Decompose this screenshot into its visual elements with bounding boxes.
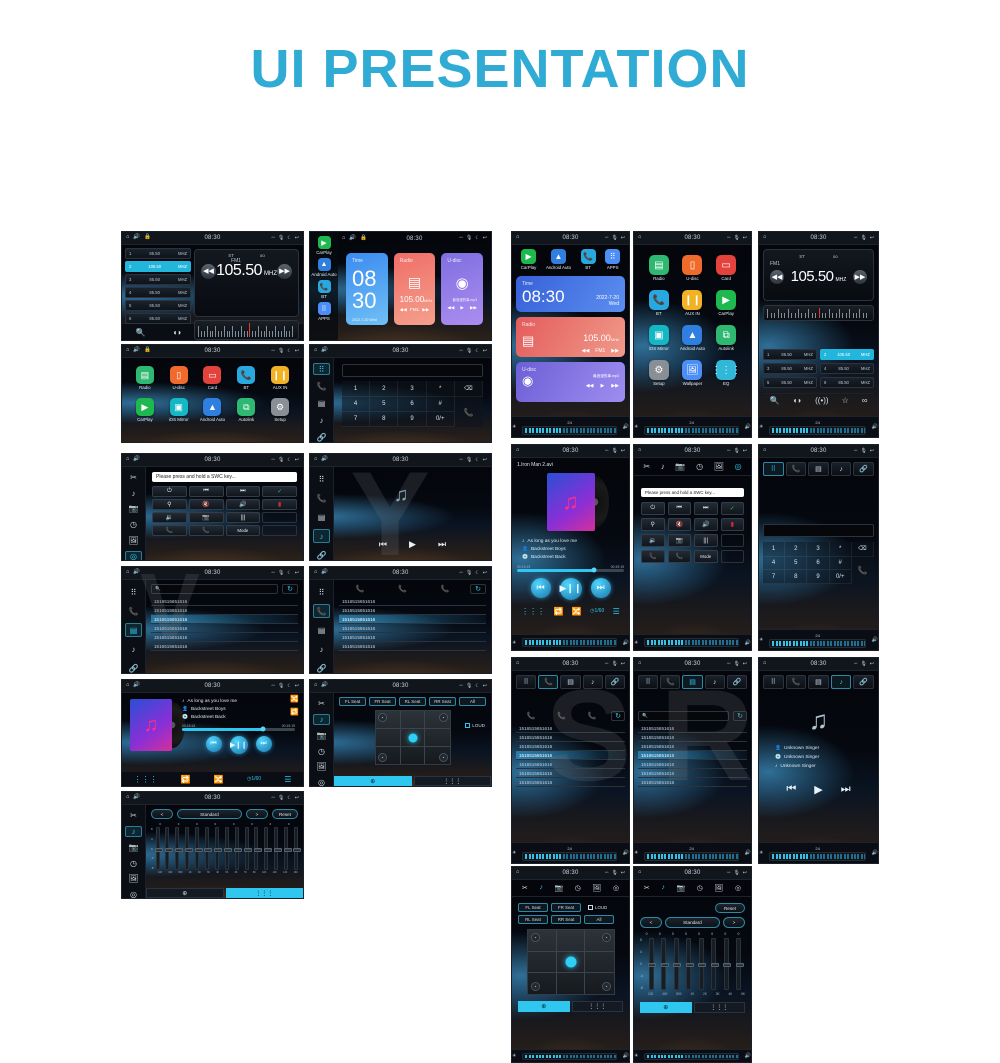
panel-balance-vertical[interactable]: ⌂ 08:30 ▫▫🎙↩ ✂ ♪ 📷 ◷ 🖼 ◎ FL Seat FR Sea (511, 866, 630, 1063)
balance-icon[interactable]: ⊕ (518, 1001, 570, 1012)
eq-slider[interactable] (245, 827, 249, 870)
list-item[interactable]: 1516515651616 (638, 760, 747, 769)
clock-icon[interactable]: ◷ (575, 884, 581, 892)
home-icon[interactable]: ⌂ (516, 448, 519, 454)
search-input[interactable]: 🔍 (638, 711, 729, 721)
eq-slider-knob[interactable] (234, 848, 242, 852)
eq-slider-knob[interactable] (155, 848, 163, 852)
music-icon[interactable]: ♪ (583, 675, 603, 689)
dial-key[interactable]: 9 (398, 412, 426, 427)
seat-rr[interactable]: RR Seat (551, 915, 581, 924)
dialpad-icon[interactable]: ⠿ (763, 462, 784, 476)
steering-icon[interactable]: ◎ (735, 462, 742, 471)
panel-dialpad-vertical[interactable]: ⌂ 08:30 ▫▫🎙↩ ⠿ 📞 ▤ ♪ 🔗 1 2 3 * (758, 444, 879, 651)
moon-icon[interactable]: ☾ (287, 458, 291, 463)
eq-slider[interactable] (711, 938, 716, 990)
seat-selector-row1[interactable]: FL Seat FR Seat LOUD (518, 903, 623, 912)
seat-rr[interactable]: RR Seat (429, 697, 456, 706)
call-icon[interactable]: 📞 (455, 397, 483, 427)
list-item[interactable]: 1516515651616 (638, 769, 747, 778)
dial-key[interactable]: 4 (342, 397, 370, 412)
moon-icon[interactable]: ☾ (475, 349, 479, 354)
home-icon[interactable]: ⌂ (638, 661, 641, 667)
mic-icon[interactable]: 🎙 (611, 871, 617, 876)
prev-icon[interactable]: ⏮ (379, 539, 387, 550)
image-icon[interactable]: 🖼 (714, 462, 724, 471)
radio-preset[interactable]: 485.50MHZ (125, 287, 191, 298)
back-icon[interactable]: ↩ (295, 349, 299, 354)
moon-icon[interactable]: ☾ (287, 236, 291, 241)
eq-slider[interactable] (661, 938, 666, 990)
panel-home-vertical[interactable]: ⌂ 08:30 ▫▫🎙↩ ▶CarPlay ▲Android Auto 📞BT … (511, 231, 630, 438)
camera-icon[interactable]: 📷 (125, 504, 142, 515)
swc-volume-down-key[interactable]: 🔉 (152, 512, 187, 523)
play-icon[interactable]: ▶ (460, 305, 464, 311)
eq-reset-button[interactable]: Reset (715, 903, 745, 913)
home-icon[interactable]: ⌂ (126, 348, 129, 354)
list-item[interactable]: 1516515651616 (339, 615, 486, 624)
back-icon[interactable]: ↩ (483, 236, 487, 241)
sidebar-item-apps[interactable]: ⠿ APPS (318, 302, 331, 321)
swc-cancel-key[interactable]: ▮ (262, 499, 297, 510)
eq-slider[interactable] (674, 938, 679, 990)
bt-sidebar[interactable]: ⠿ 📞 ▤ ♪ 🔗 (310, 467, 334, 561)
list-item[interactable]: 1516515651616 (151, 633, 298, 642)
app-setup[interactable]: ⚙Setup (649, 360, 669, 386)
btmusic-controls[interactable]: ⏮ ▶ ⏭ (763, 783, 874, 796)
swc-eq-key[interactable]: ||| (226, 512, 261, 523)
music-controls[interactable]: ⏮ ▶❙❙ ⏭ (517, 578, 624, 600)
eq-slider-knob[interactable] (165, 848, 173, 852)
audio-tabs[interactable]: ⊕ ⋮⋮⋮ (640, 1002, 745, 1013)
back-icon[interactable]: ↩ (295, 571, 299, 576)
radio-preset[interactable]: 685.50MHZ (125, 313, 191, 324)
moon-icon[interactable]: ☾ (287, 349, 291, 354)
swc-key-grid[interactable]: ⏻ ⏮ ⏭ ✓ ⚲ 🔇 🔊 ▮ 🔉 📷 ||| 📞 📞 (152, 486, 297, 536)
eq-slider[interactable] (156, 827, 160, 870)
moon-icon[interactable]: ☾ (287, 571, 291, 576)
app-card[interactable]: ▭Card (203, 366, 221, 390)
dial-key[interactable]: 6 (807, 557, 829, 571)
list-item[interactable]: 1516515651616 (516, 751, 625, 760)
dial-key[interactable]: 7 (763, 570, 785, 584)
mic-icon[interactable]: 🎙 (278, 796, 284, 801)
seat-fr[interactable]: FR Seat (551, 903, 581, 912)
sound-icon[interactable]: ♪ (125, 826, 142, 837)
dial-key[interactable]: 2 (785, 542, 807, 557)
call-log-icon[interactable]: 📞 (313, 380, 330, 392)
eq-slider-group[interactable] (645, 938, 745, 990)
list-item[interactable]: 1516515651616 (151, 624, 298, 633)
panel-eq-vertical[interactable]: ⌂ 08:30 ▫▫🎙↩ ✂ ♪ 📷 ◷ 🖼 ◎ Reset (633, 866, 752, 1063)
steering-icon[interactable]: ◎ (613, 884, 619, 892)
lock-icon[interactable]: 🔒 (144, 235, 151, 241)
home-icon[interactable]: ⌂ (638, 870, 641, 876)
mic-icon[interactable]: 🎙 (466, 236, 472, 241)
tune-down-button[interactable]: ◀◀ (770, 270, 784, 284)
eq-slider[interactable] (649, 938, 654, 990)
list-item[interactable]: 1516515651616 (151, 597, 298, 606)
eq-slider[interactable] (699, 938, 704, 990)
card-time[interactable]: Time 08:30 2022-7-20 Wed (516, 276, 625, 312)
app-grid[interactable]: ▤Radio ▯U-disc ▭Card 📞BT ❙❙AUX IN ▶CarPl… (642, 255, 743, 386)
panel-music-horizontal[interactable]: ⌂🔊 08:30 ▫▫🎙☾↩ ♫ ♪As long as you love me… (121, 679, 304, 787)
back-icon[interactable]: ↩ (870, 236, 874, 241)
list-item[interactable]: 1516515651616 (151, 606, 298, 615)
swc-mode-key[interactable]: Mode (226, 525, 261, 536)
radio-preset[interactable]: 385.50MHZ (125, 274, 191, 285)
bt-sidebar[interactable]: ⠿ 📞 ▤ ♪ 🔗 (310, 358, 334, 443)
music-icon[interactable]: ♪ (831, 462, 852, 476)
app-setup[interactable]: ⚙Setup (271, 398, 289, 422)
eq-slider[interactable] (724, 938, 729, 990)
dialpad-icon[interactable]: ⠿ (313, 472, 330, 486)
back-icon[interactable]: ↩ (743, 449, 747, 454)
seat-fr[interactable]: FR Seat (369, 697, 396, 706)
contacts-icon[interactable]: ▤ (682, 675, 702, 689)
swc-camera-key[interactable]: 📷 (189, 512, 224, 523)
eq-slider-knob[interactable] (185, 848, 193, 852)
swc-end-key[interactable]: 📞 (668, 550, 692, 563)
back-icon[interactable]: ↩ (621, 871, 625, 876)
clock-icon[interactable]: ◷ (697, 884, 703, 892)
prev-icon[interactable]: ◀◀ (586, 383, 594, 389)
music-progress[interactable] (517, 569, 624, 572)
eq-icon[interactable]: ⋮⋮⋮ (572, 1001, 624, 1012)
steering-icon[interactable]: ◎ (125, 551, 142, 561)
scan-icon[interactable]: ◖◗ (792, 396, 802, 405)
home-icon[interactable]: ⌂ (763, 448, 766, 454)
tune-up-button[interactable]: ▶▶ (853, 270, 867, 284)
app-android-auto[interactable]: ▲Android Auto (200, 398, 225, 422)
image-icon[interactable]: 🖼 (715, 884, 724, 892)
balance-grid[interactable] (527, 929, 615, 995)
home-icon[interactable]: ⌂ (516, 235, 519, 241)
swc-mode-key[interactable]: Mode (694, 550, 718, 563)
dial-key[interactable]: 0/+ (830, 570, 852, 584)
balance-grid[interactable] (375, 710, 451, 765)
call-icon[interactable]: 📞 (852, 557, 874, 584)
back-icon[interactable]: ↩ (295, 796, 299, 801)
list-item[interactable]: 1516515651616 (151, 615, 298, 624)
prev-icon[interactable]: ⏮ (206, 736, 222, 752)
music-icon[interactable]: ♪ (831, 675, 852, 689)
sound-icon[interactable]: ♪ (661, 462, 665, 471)
home-icon[interactable]: ⌂ (638, 448, 641, 454)
missed-call-icon[interactable]: 📞 (587, 712, 596, 720)
home-icon[interactable]: ⌂ (516, 870, 519, 876)
mic-icon[interactable]: 🎙 (278, 236, 284, 241)
mic-icon[interactable]: 🎙 (278, 349, 284, 354)
back-icon[interactable]: ↩ (743, 871, 747, 876)
mic-icon[interactable]: 🎙 (733, 662, 739, 667)
missed-call-icon[interactable]: 📞 (440, 585, 449, 593)
list-item[interactable]: 1516515651616 (638, 778, 747, 787)
mic-icon[interactable]: 🎙 (466, 684, 472, 689)
back-icon[interactable]: ↩ (621, 662, 625, 667)
link-icon[interactable]: 🔗 (125, 661, 142, 674)
seat-selector-row2[interactable]: RL Seat RR Seat All (518, 915, 623, 924)
seat-fl[interactable]: FL Seat (518, 903, 548, 912)
home-icon[interactable]: ⌂ (126, 795, 129, 801)
card-udisc[interactable]: U-disc ◉ 最浪漫的事.mp3 ◀◀ ▶ ▶▶ (441, 253, 483, 325)
tuning-scale[interactable] (194, 320, 299, 340)
prev-icon[interactable]: ◀◀ (400, 307, 407, 313)
swc-mute-key[interactable]: 🔇 (668, 518, 692, 531)
eq-slider-knob[interactable] (648, 963, 656, 967)
swc-next-key[interactable]: ⏭ (694, 502, 718, 515)
swc-prev-key[interactable]: ⏮ (668, 502, 692, 515)
eq-preset-label[interactable]: Standard (665, 917, 720, 928)
music-icon[interactable]: ♪ (313, 529, 330, 543)
card-radio[interactable]: Radio ▤ 105.00MHz ◀◀ FM1 ▶▶ (516, 317, 625, 357)
list-item[interactable]: 1516515651616 (339, 597, 486, 606)
app-wallpaper[interactable]: 🖼Wallpaper (682, 360, 702, 386)
sound-icon[interactable]: ♪ (313, 714, 330, 725)
music-icon[interactable]: ♪ (125, 642, 142, 656)
eq-prev-button[interactable]: < (640, 917, 662, 928)
list-item[interactable]: 1516515651616 (638, 724, 747, 733)
seat-fl[interactable]: FL Seat (339, 697, 366, 706)
moon-icon[interactable]: ☾ (475, 571, 479, 576)
next-icon[interactable]: ⏭ (591, 578, 611, 598)
card-radio[interactable]: Radio ▤ 105.00MHz ◀◀ FM1 ▶▶ (394, 253, 436, 325)
home-icon[interactable]: ⌂ (342, 236, 345, 242)
list-item[interactable]: 1516515651616 (516, 769, 625, 778)
list-item[interactable]: 1516515651616 (516, 778, 625, 787)
radio-preset[interactable]: 385.50MHZ (763, 363, 817, 374)
settings-sidebar[interactable]: ✂ ♪ 📷 ◷ 🖼 ◎ (122, 805, 146, 899)
incoming-call-icon[interactable]: 📞 (527, 712, 536, 720)
list-item[interactable]: 1516515651616 (638, 733, 747, 742)
home-shortcuts[interactable]: ▶CarPlay ▲Android Auto 📞BT ⠿APPS (516, 249, 625, 270)
swc-power-key[interactable]: ⏻ (152, 486, 187, 497)
moon-icon[interactable]: ☾ (475, 684, 479, 689)
radio-preset[interactable]: 2105.50MHZ (125, 261, 191, 272)
panel-phonebook-vertical[interactable]: ⌂ 08:30 ▫▫🎙↩ ⠿ 📞 ▤ ♪ 🔗 🔍 ↻ 15165156 (633, 657, 752, 864)
dialpad-grid[interactable]: 1 2 3 * ⌫ 4 5 6 # 📞 7 8 9 0/+ (763, 542, 874, 584)
play-pause-icon[interactable]: ▶❙❙ (560, 578, 582, 600)
eq-slider-knob[interactable] (254, 848, 262, 852)
mic-icon[interactable]: 🎙 (278, 571, 284, 576)
audio-tabs[interactable]: ⊕ ⋮⋮⋮ (518, 1001, 623, 1012)
prev-icon[interactable]: ⏮ (531, 578, 551, 598)
camera-icon[interactable]: 📷 (676, 884, 685, 892)
shuffle-icon[interactable]: 🔀 (572, 607, 582, 616)
list-item[interactable]: 1516515651616 (638, 742, 747, 751)
app-bt[interactable]: 📞BT (649, 290, 669, 316)
eq-slider[interactable] (264, 827, 268, 870)
eq-slider-knob[interactable] (274, 848, 282, 852)
eq-slider-knob[interactable] (284, 848, 292, 852)
next-icon[interactable]: ⏭ (841, 783, 851, 796)
contacts-icon[interactable]: ▤ (313, 510, 330, 524)
contacts-icon[interactable]: ▤ (313, 398, 330, 410)
contacts-icon[interactable]: ▤ (808, 462, 829, 476)
eq-slider-knob[interactable] (698, 963, 706, 967)
eq-slider-knob[interactable] (264, 848, 272, 852)
app-eq[interactable]: ⋮⋮⋮EQ (716, 360, 736, 386)
loud-toggle[interactable]: LOUD (465, 723, 485, 728)
mic-icon[interactable]: 🎙 (278, 458, 284, 463)
back-icon[interactable]: ↩ (483, 571, 487, 576)
call-log-icon[interactable]: 📞 (786, 462, 807, 476)
eq-slider-knob[interactable] (293, 848, 301, 852)
volume-icon[interactable]: 🔊 (321, 683, 328, 689)
swc-answer-key[interactable]: 📞 (152, 525, 187, 536)
back-icon[interactable]: ↩ (743, 236, 747, 241)
swc-power-key[interactable]: ⏻ (641, 502, 665, 515)
eq-slider[interactable] (235, 827, 239, 870)
eq-slider[interactable] (686, 938, 691, 990)
shuffle-icon[interactable]: 🔀 (290, 695, 299, 703)
radio-preset[interactable]: 185.50MHZ (125, 248, 191, 259)
panel-swc-vertical[interactable]: ⌂ 08:30 ▫▫🎙↩ ✂ ♪ 📷 ◷ 🖼 ◎ Please press an… (633, 444, 752, 651)
clock-icon[interactable]: ◷ (125, 858, 142, 869)
settings-sidebar[interactable]: ✂ ♪ 📷 ◷ 🖼 ◎ (122, 467, 146, 561)
phonebook-list[interactable]: 1516515651616 1516515651616 151651565161… (151, 597, 298, 651)
dialpad-icon[interactable]: ⠿ (313, 585, 330, 599)
back-icon[interactable]: ↩ (483, 458, 487, 463)
bt-sidebar[interactable]: ⠿ 📞 ▤ ♪ 🔗 (310, 580, 334, 674)
prev-icon[interactable]: ◀◀ (582, 348, 590, 354)
home-icon[interactable]: ⌂ (763, 235, 766, 241)
mic-icon[interactable]: 🎙 (611, 236, 617, 241)
mic-icon[interactable]: 🎙 (733, 871, 739, 876)
call-log-icon[interactable]: 📞 (313, 491, 330, 505)
home-icon[interactable]: ⌂ (314, 683, 317, 689)
dial-key[interactable]: 0/+ (427, 412, 455, 427)
search-input[interactable]: 🔍 (151, 584, 278, 594)
music-icon[interactable]: ♪ (313, 415, 330, 427)
tools-icon[interactable]: ✂ (644, 884, 650, 892)
tools-icon[interactable]: ✂ (522, 884, 528, 892)
swc-camera-key[interactable]: 📷 (668, 534, 692, 547)
back-icon[interactable]: ↩ (483, 349, 487, 354)
dial-key[interactable]: 1 (763, 542, 785, 557)
eq-slider[interactable] (254, 827, 258, 870)
volume-icon[interactable]: 🔊 (133, 683, 140, 689)
clock-icon[interactable]: ◷ (696, 462, 703, 471)
dial-key[interactable]: * (830, 542, 852, 557)
app-card[interactable]: ▭Card (716, 255, 736, 281)
music-icon[interactable]: ♪ (313, 642, 330, 656)
back-icon[interactable]: ↩ (621, 236, 625, 241)
swc-eq-key[interactable]: ||| (694, 534, 718, 547)
camera-icon[interactable]: 📷 (313, 730, 330, 741)
mic-icon[interactable]: 🎙 (611, 449, 617, 454)
mic-icon[interactable]: 🎙 (611, 662, 617, 667)
repeat-icon[interactable]: 🔁 (554, 607, 564, 616)
play-icon[interactable]: ▶ (409, 539, 416, 550)
tools-icon[interactable]: ✂ (125, 810, 142, 821)
home-icon[interactable]: ⌂ (638, 235, 641, 241)
timer-icon[interactable]: ◷1/60 (590, 608, 604, 614)
refresh-button[interactable]: ↻ (611, 711, 625, 721)
tools-icon[interactable]: ✂ (313, 698, 330, 709)
panel-btmusic-horizontal[interactable]: ⌂🔊 08:30 ▫▫🎙☾↩ ⠿ 📞 ▤ ♪ 🔗 ♫ ⏮ ▶ (309, 453, 492, 561)
eq-slider-knob[interactable] (195, 848, 203, 852)
music-bottom-bar[interactable]: ⋮⋮⋮ 🔁 🔀 ◷1/60 ☰ (517, 607, 624, 616)
panel-calllog-horizontal[interactable]: ⌂🔊 08:30 ▫▫🎙☾↩ ⠿ 📞 ▤ ♪ 🔗 📞 📞 (309, 566, 492, 674)
home-icon[interactable]: ⌂ (516, 661, 519, 667)
eq-slider[interactable] (274, 827, 278, 870)
dial-key[interactable]: # (427, 397, 455, 412)
music-icon[interactable]: ♪ (705, 675, 725, 689)
eq-slider[interactable] (175, 827, 179, 870)
home-icon[interactable]: ⌂ (314, 570, 317, 576)
eq-slider-knob[interactable] (224, 848, 232, 852)
settings-tabbar[interactable]: ✂ ♪ 📷 ◷ 🖼 ◎ (634, 458, 751, 476)
dial-key[interactable]: 2 (370, 381, 398, 397)
dial-key[interactable]: 8 (785, 570, 807, 584)
bt-tabbar[interactable]: ⠿ 📞 ▤ ♪ 🔗 (763, 462, 874, 476)
dial-display[interactable] (763, 524, 874, 537)
link-icon[interactable]: 🔗 (853, 462, 874, 476)
panel-home-horizontal[interactable]: ▶ CarPlay ▲ Android Auto 📞 BT ⠿ APPS (309, 231, 492, 341)
eq-slider-knob[interactable] (214, 848, 222, 852)
clock-icon[interactable]: ◷ (125, 519, 142, 530)
volume-icon[interactable]: 🔊 (133, 457, 140, 463)
eq-slider-knob[interactable] (661, 963, 669, 967)
settings-tabbar[interactable]: ✂ ♪ 📷 ◷ 🖼 ◎ (634, 880, 751, 897)
mic-icon[interactable]: 🎙 (860, 236, 866, 241)
eq-slider-group[interactable] (156, 827, 299, 870)
next-icon[interactable]: ▶▶ (470, 305, 477, 311)
app-udisc[interactable]: ▯U-disc (682, 255, 702, 281)
radio-preset[interactable]: 185.50MHZ (763, 349, 817, 360)
app-radio[interactable]: ▤Radio (136, 366, 154, 390)
image-icon[interactable]: 🖼 (593, 884, 602, 892)
panel-apps-horizontal[interactable]: ⌂🔊🔒 08:30 ▫▫🎙☾↩ ▤Radio ▯U-disc ▭Card 📞BT… (121, 344, 304, 443)
swc-answer-key[interactable]: 📞 (641, 550, 665, 563)
dialpad-grid[interactable]: 1 2 3 * ⌫ 4 5 6 # 📞 7 8 9 0/+ (342, 381, 483, 427)
refresh-button[interactable]: ↻ (282, 584, 298, 594)
radio-toolbar[interactable]: 🔍 ◖◗ ((•)) ☆ ∞ (763, 393, 874, 407)
seat-all[interactable]: All (584, 915, 614, 924)
btmusic-controls[interactable]: ⏮ ▶ ⏭ (334, 539, 491, 550)
shortcut-apps[interactable]: ⠿APPS (605, 249, 620, 270)
settings-sidebar[interactable]: ✂ ♪ 📷 ◷ 🖼 ◎ (310, 693, 334, 787)
panel-dialpad-horizontal[interactable]: ⌂🔊 08:30 ▫▫🎙☾↩ ⠿ 📞 ▤ ♪ 🔗 1 2 (309, 344, 492, 443)
balance-knob[interactable] (408, 733, 417, 742)
mic-icon[interactable]: 🎙 (733, 236, 739, 241)
moon-icon[interactable]: ☾ (287, 796, 291, 801)
backspace-icon[interactable]: ⌫ (852, 542, 874, 557)
seat-all[interactable]: All (459, 697, 486, 706)
dial-key[interactable]: 7 (342, 412, 370, 427)
swc-cancel-key[interactable]: ▮ (721, 518, 745, 531)
bt-sidebar[interactable]: ⠿ 📞 ▤ ♪ 🔗 (122, 580, 146, 674)
dialpad-icon[interactable]: ⠿ (638, 675, 658, 689)
link-icon[interactable]: 🔗 (313, 432, 330, 443)
dial-key[interactable]: 1 (342, 381, 370, 397)
eq-slider[interactable] (294, 827, 298, 870)
sidebar-item-android-auto[interactable]: ▲ Android Auto (311, 258, 336, 277)
dial-key[interactable]: 9 (807, 570, 829, 584)
eq-prev-button[interactable]: < (151, 809, 173, 819)
repeat-icon[interactable]: 🔁 (290, 708, 299, 716)
eq-slider-knob[interactable] (736, 963, 744, 967)
app-bt[interactable]: 📞BT (237, 366, 255, 390)
music-controls[interactable]: ⏮ ▶❙❙ ⏭ (182, 736, 295, 754)
swc-key-grid[interactable]: ⏻ ⏮ ⏭ ✓ ⚲ 🔇 🔊 ▮ 🔉 📷 ||| 📞 📞 (641, 502, 744, 563)
panel-btmusic-vertical[interactable]: ⌂ 08:30 ▫▫🎙↩ ⠿ 📞 ▤ ♪ 🔗 ♫ 👤Unknown Singer… (758, 657, 879, 864)
dialpad-icon[interactable]: ⠿ (763, 675, 784, 689)
swc-volume-up-key[interactable]: 🔊 (694, 518, 718, 531)
dialpad-icon[interactable]: ⠿ (313, 363, 330, 375)
bt-tabbar[interactable]: ⠿ 📞 ▤ ♪ 🔗 (516, 675, 625, 689)
